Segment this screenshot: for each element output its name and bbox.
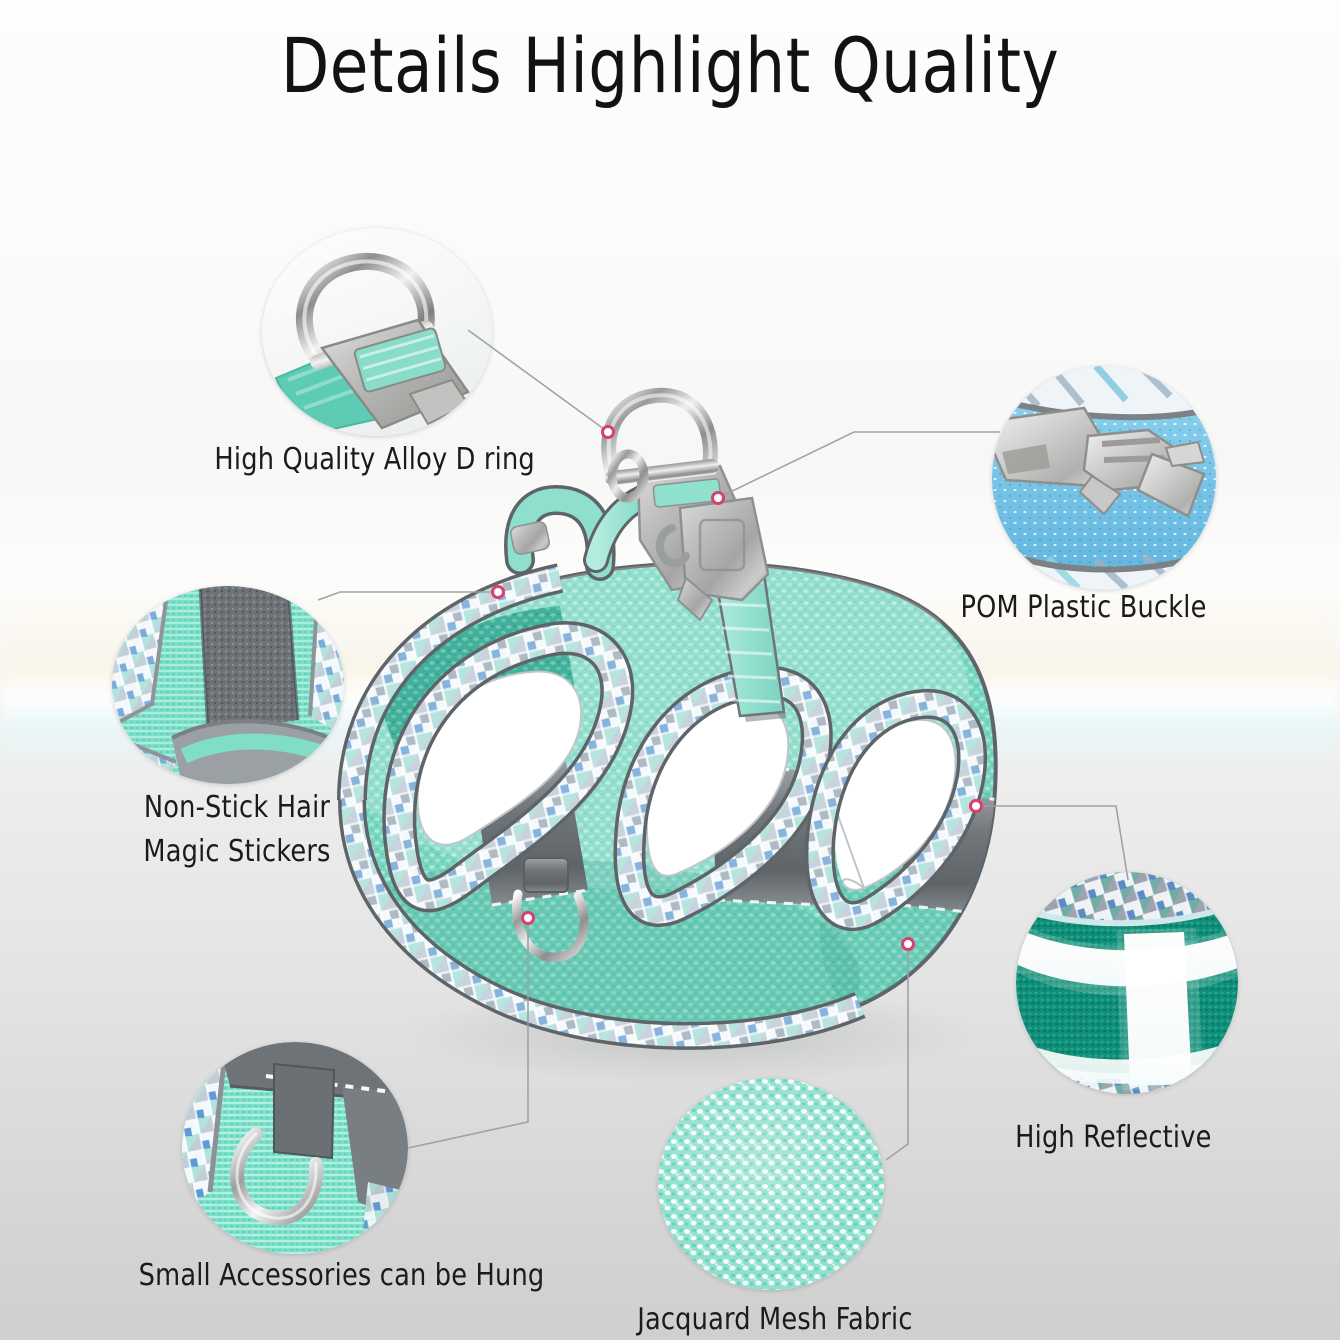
neck-collar-strap xyxy=(509,492,660,566)
callout-circle-buckle[interactable] xyxy=(992,366,1216,590)
label-d-ring: High Quality Alloy D ring xyxy=(214,438,534,482)
label-velcro-line2: Magic Stickers xyxy=(130,830,345,874)
infographic-canvas: Details Highlight Quality xyxy=(0,0,1340,1340)
callout-circle-mesh[interactable] xyxy=(658,1078,884,1290)
jacquard-mesh-closeup-icon xyxy=(658,1078,884,1290)
label-buckle: POM Plastic Buckle xyxy=(960,586,1206,630)
callout-circle-velcro[interactable] xyxy=(112,586,344,784)
plastic-buckle-closeup-icon xyxy=(992,366,1216,590)
callout-circle-d-ring[interactable] xyxy=(262,228,492,436)
d-ring-closeup-icon xyxy=(262,228,492,436)
reflective-strip-closeup-icon xyxy=(1016,872,1238,1094)
callout-circle-reflective[interactable] xyxy=(1016,872,1238,1094)
small-d-ring-closeup-icon xyxy=(182,1042,408,1254)
harness-body xyxy=(260,395,1100,1100)
label-reflective: High Reflective xyxy=(1015,1116,1211,1160)
callout-circle-accessory-ring[interactable] xyxy=(182,1042,408,1254)
label-velcro: Non-Stick Hair Magic Stickers xyxy=(130,786,345,873)
velcro-closeup-icon xyxy=(112,586,344,784)
label-mesh: Jacquard Mesh Fabric xyxy=(637,1298,912,1340)
label-velcro-line1: Non-Stick Hair xyxy=(130,786,345,830)
label-accessory-ring: Small Accessories can be Hung xyxy=(139,1254,545,1298)
